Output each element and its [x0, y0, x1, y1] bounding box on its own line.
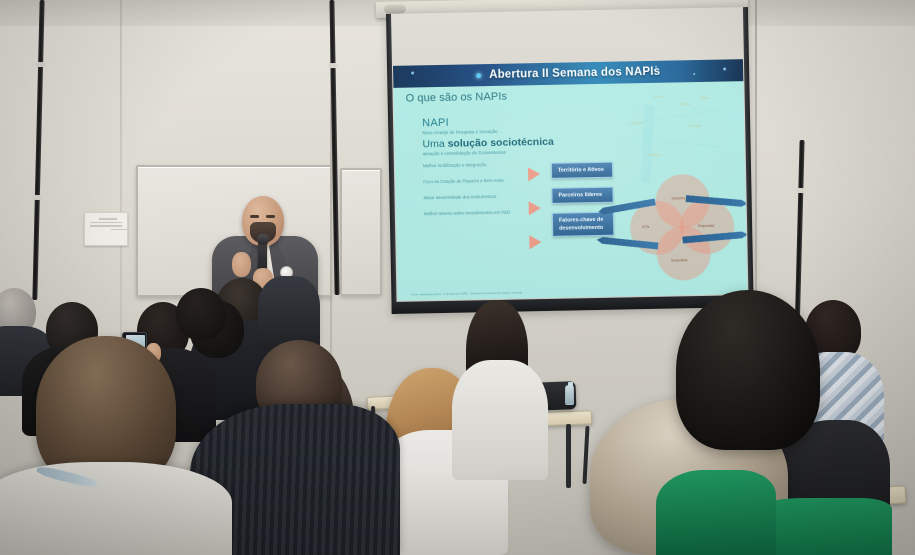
audience-torso: [0, 462, 232, 555]
slide-arrow-group: [528, 167, 542, 249]
map-node-label: Pesquisa: [647, 153, 661, 157]
classroom-photo-scene: Abertura II Semana dos NAPIs O que são o…: [0, 0, 915, 555]
bullet-dot-icon: [476, 73, 481, 78]
napi-definition-block: NAPI Novo Arranjo de Pesquisa e Inovação…: [422, 115, 554, 157]
audience-torso: [452, 360, 548, 480]
arrow-right-icon: [528, 167, 540, 181]
venn-label: ICTs: [642, 225, 649, 229]
slide-bullet-list: Melhor mobilização e integração. Foco na…: [423, 161, 519, 226]
map-node-label: Atores: [700, 96, 710, 100]
slide-bullet: Foco na Criação de Riqueza e Bem-estar.: [423, 177, 518, 185]
sparkle-icon: [723, 67, 726, 70]
presenter-brow-left: [250, 215, 259, 218]
notice-line: [90, 225, 122, 227]
slide-bullet: Melhor mobilização e integração.: [423, 161, 518, 169]
arrow-right-icon: [529, 201, 541, 215]
wall-notice: [84, 212, 128, 246]
napi-solution-line: Uma solução sociotécnica: [422, 136, 554, 151]
map-node-label: Ativos: [654, 95, 663, 99]
projector-screen: Abertura II Semana dos NAPIs O que são o…: [386, 7, 754, 314]
map-link: [641, 105, 655, 183]
arrow-right-icon: [529, 235, 541, 249]
slide-title: Abertura II Semana dos NAPIs: [489, 66, 660, 81]
audience-head: [676, 290, 820, 450]
water-bottle: [565, 385, 574, 405]
slide-graphic: Ativos Redes Atores Território Inovação …: [611, 85, 743, 287]
conduit-clip: [329, 63, 338, 68]
presenter-brow-right: [266, 215, 275, 218]
venn-diagram: Governo ICTs Empresas Sociedade: [629, 173, 735, 281]
venn-circle-bottom: [656, 226, 711, 281]
audience-torso-green: [656, 470, 776, 555]
slide-bullet: Maior assertividade dos instrumentos.: [423, 193, 518, 201]
venn-label: Sociedade: [671, 258, 688, 262]
map-node-label: Redes: [682, 102, 692, 106]
microphone-head: [257, 234, 269, 245]
notice-line: [111, 229, 127, 231]
napi-acronym: NAPI: [422, 115, 554, 130]
conduit-clip: [33, 195, 42, 200]
slide-bullet: Melhor retorno sobre investimentos em P&…: [424, 209, 519, 217]
sparkle-icon: [693, 73, 695, 75]
napi-solution-strong: solução sociotécnica: [447, 136, 553, 150]
presentation-slide: Abertura II Semana dos NAPIs O que são o…: [393, 59, 747, 301]
slide-callout: Parceiros líderes: [551, 187, 613, 204]
map-node-label: Inovação: [688, 124, 702, 128]
audience-torso: [258, 276, 320, 350]
map-node-label: Território: [630, 121, 643, 125]
notice-line: [99, 218, 117, 220]
notice-line: [90, 222, 122, 224]
slide-heading: O que são os NAPIs: [406, 91, 508, 105]
slide-title-bar: Abertura II Semana dos NAPIs: [393, 59, 743, 88]
presenter-hand-left: [232, 252, 251, 277]
slide-callout: Território e Ativos: [551, 162, 613, 179]
sparkle-icon: [411, 71, 414, 74]
venn-label: Governo: [672, 196, 686, 200]
conduit-clip: [796, 188, 805, 193]
slide-callout-group: Território e Ativos Parceiros líderes Fa…: [551, 162, 615, 247]
whiteboard-secondary: [340, 168, 382, 296]
screen-pull-knob: [384, 4, 406, 13]
audience-head: [176, 288, 226, 340]
conduit-clip: [36, 62, 45, 67]
desk-leg: [566, 424, 571, 488]
napi-solution-prefix: Uma: [422, 138, 447, 150]
slide-callout: Fatores-chave de desenvolvimento: [552, 212, 614, 237]
venn-label: Empresas: [698, 224, 714, 228]
